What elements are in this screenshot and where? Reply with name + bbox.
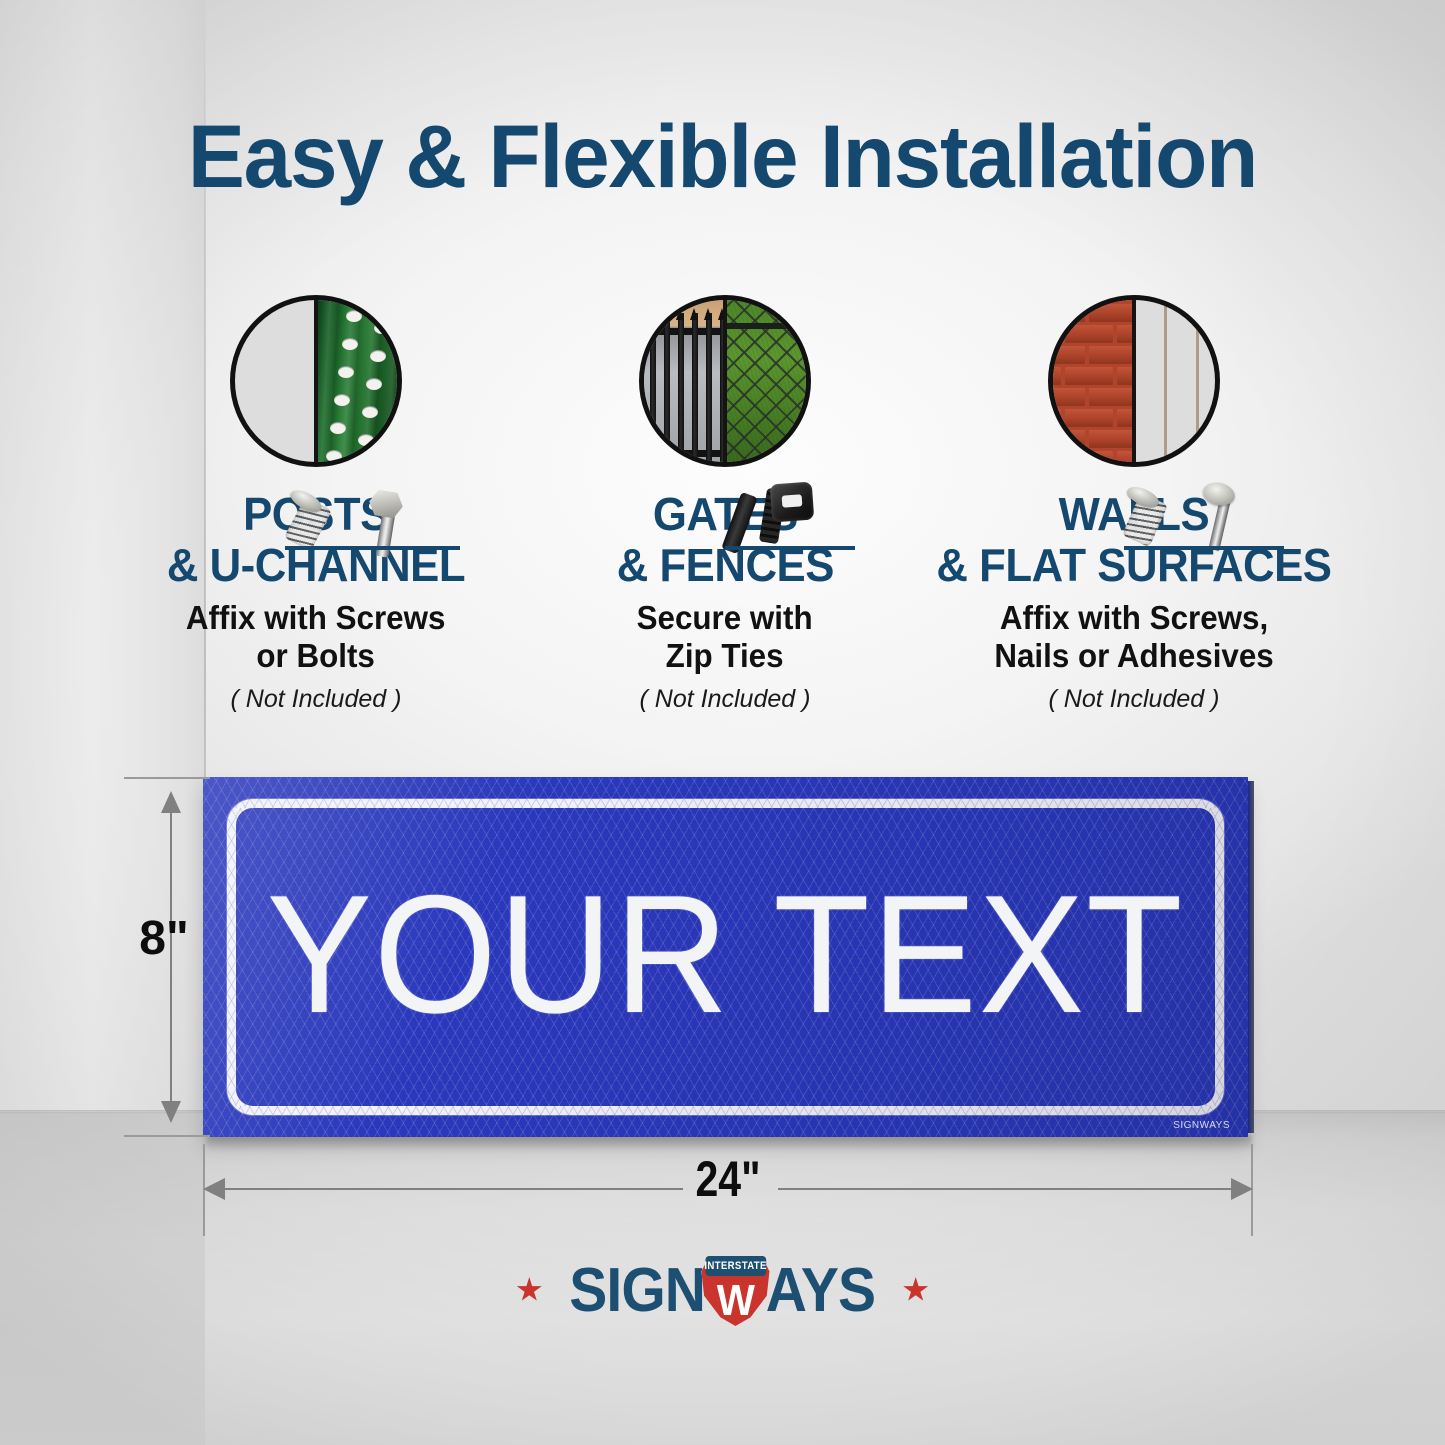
sign-custom-text: YOUR TEXT [234,777,1216,1137]
shield-banner: INTERSTATE [705,1256,766,1276]
brand-prefix: SIGN [570,1255,706,1326]
brand-logo-inner: SIGN INTERSTATE W AYS [516,1254,928,1326]
height-extension-top [124,777,210,779]
brand-wordmark: SIGN INTERSTATE W AYS [570,1254,876,1326]
product-sign: YOUR TEXT SIGNWAYS [203,777,1248,1137]
brand-logo: SIGN INTERSTATE W AYS [0,1247,1445,1333]
width-arrow-left-icon [203,1178,225,1200]
star-icon [516,1277,542,1303]
width-arrow-right-icon [1231,1178,1253,1200]
interstate-shield-icon: INTERSTATE W [702,1254,770,1326]
height-arrow-down-icon [161,1101,181,1123]
shield-letter: W [702,1276,770,1326]
width-label: 24" [298,1150,1159,1208]
product-infographic: Easy & Flexible Installation [0,0,1445,1445]
brand-suffix: AYS [766,1255,875,1326]
star-icon [903,1277,929,1303]
sign-edge-thickness [1248,781,1254,1133]
width-dimension: 24" [203,1140,1253,1236]
height-arrow-up-icon [161,791,181,813]
shield-banner-text: INTERSTATE [705,1260,767,1272]
height-extension-bottom [124,1135,210,1137]
height-dimension: 8" [120,777,210,1137]
sign-watermark: SIGNWAYS [1173,1120,1230,1131]
height-label: 8" [116,911,212,966]
